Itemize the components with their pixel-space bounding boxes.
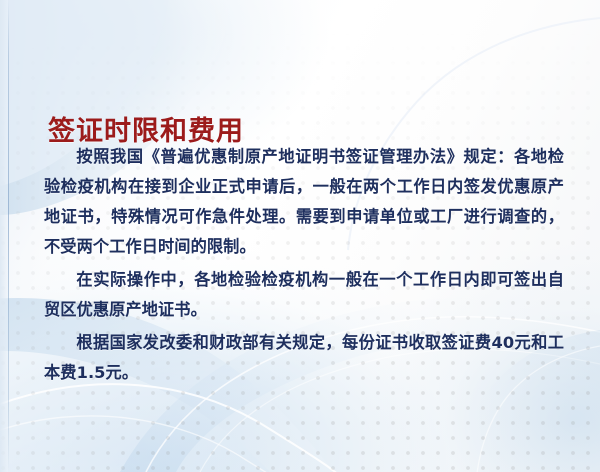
body-paragraph-3: 根据国家发改委和财政部有关规定，每份证书收取签证费40元和工本费1.5元。 [44, 328, 564, 388]
slide-body: 按照我国《普遍优惠制原产地证明书签证管理办法》规定：各地检验检疫机构在接到企业正… [44, 142, 564, 388]
body-paragraph-2: 在实际操作中，各地检验检疫机构一般在一个工作日内即可签出自贸区优惠原产地证书。 [44, 265, 564, 325]
left-edge-rule [8, 0, 9, 472]
presentation-slide: 签证时限和费用 按照我国《普遍优惠制原产地证明书签证管理办法》规定：各地检验检疫… [0, 0, 600, 472]
left-edge-band [0, 0, 8, 472]
body-paragraph-1: 按照我国《普遍优惠制原产地证明书签证管理办法》规定：各地检验检疫机构在接到企业正… [44, 142, 564, 262]
